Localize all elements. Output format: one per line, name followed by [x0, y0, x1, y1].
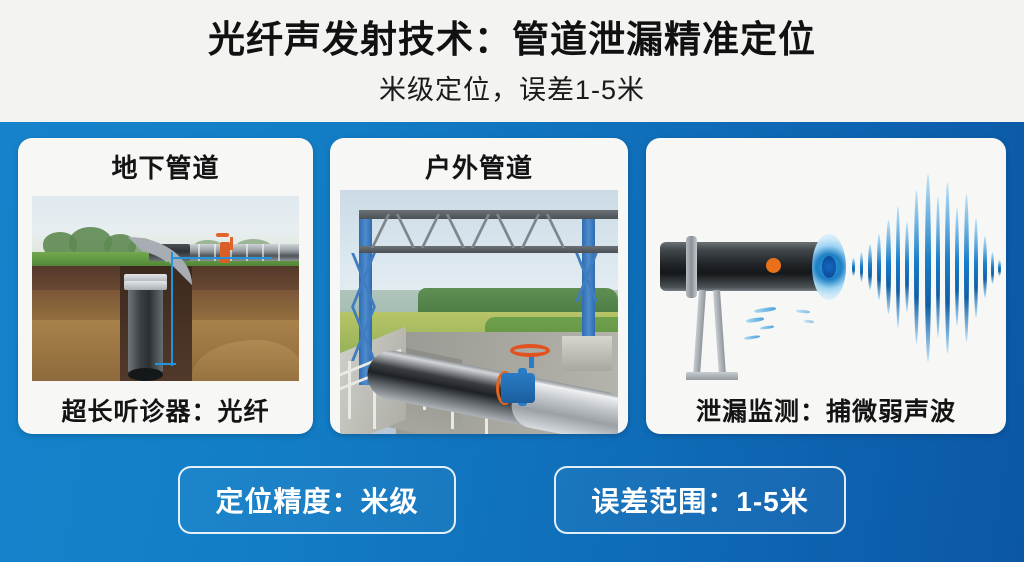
- outdoor-pipeline-illustration: [340, 190, 618, 434]
- card-outdoor-pipeline[interactable]: 户外管道: [330, 138, 628, 434]
- page-subtitle: 米级定位，误差1-5米: [0, 73, 1024, 107]
- badge-positioning-accuracy[interactable]: 定位精度：米级: [178, 466, 456, 534]
- leak-point-indicator: [766, 258, 781, 273]
- badge-error-range[interactable]: 误差范围：1-5米: [554, 466, 846, 534]
- card-title-outdoor: 户外管道: [330, 138, 628, 185]
- card-underground-pipeline[interactable]: 地下管道: [18, 138, 313, 434]
- badge-error-range-label: 误差范围：1-5米: [591, 480, 808, 520]
- card-leak-monitoring[interactable]: 泄漏监测：捕微弱声波: [646, 138, 1006, 434]
- slide-header: 光纤声发射技术：管道泄漏精准定位 米级定位，误差1-5米: [0, 0, 1024, 122]
- slide-root: 光纤声发射技术：管道泄漏精准定位 米级定位，误差1-5米 地下管道: [0, 0, 1024, 562]
- card-caption-underground: 超长听诊器：光纤: [18, 392, 313, 428]
- underground-pipeline-illustration: [32, 196, 299, 381]
- card-caption-leak-monitoring: 泄漏监测：捕微弱声波: [646, 392, 1006, 428]
- acoustic-wave-illustration: [646, 160, 1006, 380]
- badge-positioning-accuracy-label: 定位精度：米级: [215, 480, 418, 520]
- page-title: 光纤声发射技术：管道泄漏精准定位: [0, 17, 1024, 63]
- card-title-underground: 地下管道: [18, 138, 313, 185]
